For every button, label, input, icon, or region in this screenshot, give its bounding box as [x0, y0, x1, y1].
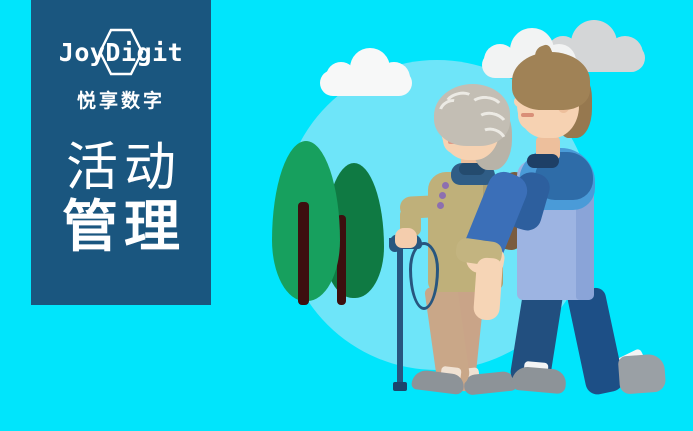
young-man-collar	[527, 154, 559, 168]
page-title-line-1: 活动	[56, 139, 186, 197]
young-man-shoe-back	[618, 353, 667, 394]
cloud-puff	[326, 62, 356, 92]
cane-tip	[393, 382, 407, 391]
page-title: 活动 管理	[56, 139, 186, 260]
brand-subtitle: 悦享数字	[77, 86, 165, 113]
illustration-banner: JoyDigit 悦享数字 活动 管理	[0, 0, 693, 431]
brand-wordmark: JoyDigit	[59, 40, 183, 65]
elderly-woman-hand-front	[473, 257, 503, 321]
cane-shaft	[397, 243, 403, 388]
young-man-mouth	[521, 113, 534, 117]
elderly-woman-button	[437, 202, 444, 209]
cloud-puff	[607, 36, 643, 72]
elderly-woman-button	[442, 182, 449, 189]
cloud-icon-left	[320, 48, 412, 94]
title-panel: JoyDigit 悦享数字 活动 管理	[31, 0, 211, 305]
elderly-woman-hand-on-cane	[395, 228, 417, 248]
brand-logo: JoyDigit	[46, 26, 196, 78]
young-man-shoe-front	[511, 366, 567, 395]
cloud-puff	[378, 62, 410, 94]
tree-front-trunk	[298, 202, 309, 305]
cloud-puff	[484, 44, 516, 76]
page-title-line-2: 管理	[56, 197, 186, 260]
elderly-woman-button	[439, 192, 446, 199]
